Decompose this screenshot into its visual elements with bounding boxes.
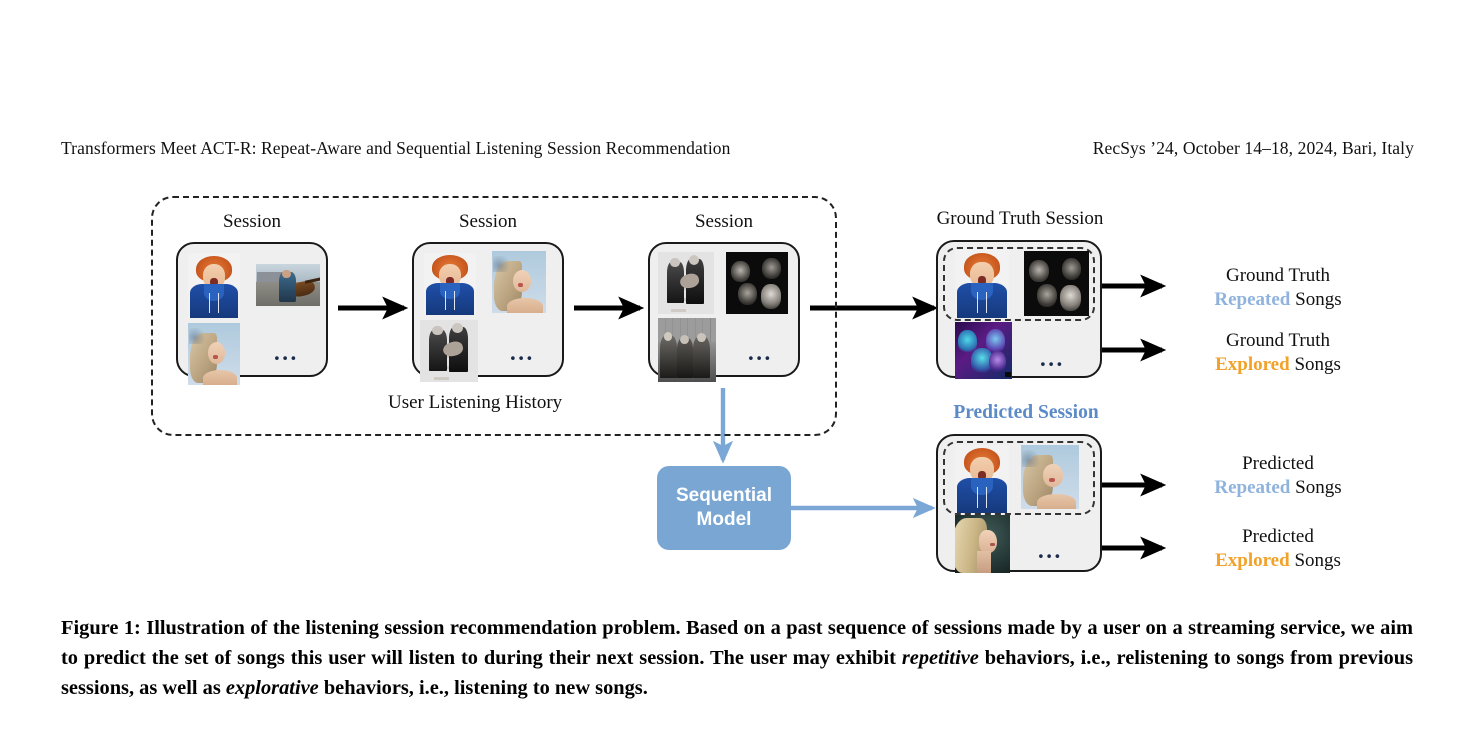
thumb-ed-sheeran-portrait [955, 445, 1009, 513]
ground-truth-repeated-suffix: Songs [1290, 289, 1341, 310]
ground-truth-repeated-line1: Ground Truth [1226, 265, 1330, 286]
session-1-title: Session [176, 211, 328, 233]
thumb-guitar-player-outdoor [256, 264, 320, 306]
ground-truth-session-card[interactable]: ... [936, 240, 1102, 378]
thumb-beatles-dark-quad [726, 252, 788, 314]
thumb-bw-duo-on-ladder [420, 320, 478, 382]
figure-caption-label: Figure 1: [61, 617, 141, 639]
predicted-explored-label: Predicted Explored Songs [1168, 525, 1388, 574]
figure-1-diagram: Session ... Session ... Session [0, 180, 1480, 600]
figure-caption-em-explorative: explorative [226, 677, 319, 699]
thumb-bw-band-on-steps [658, 318, 716, 382]
session-2-card[interactable]: ... [412, 242, 564, 377]
figure-caption: Figure 1: Illustration of the listening … [61, 614, 1413, 703]
session-3-ellipsis: ... [748, 341, 773, 364]
ground-truth-explored-label: Ground Truth Explored Songs [1168, 329, 1388, 378]
session-1-ellipsis: ... [274, 341, 299, 364]
session-3-title: Session [648, 211, 800, 233]
predicted-session-card[interactable]: ... [936, 434, 1102, 572]
thumb-taylor-swift-portrait [1021, 445, 1079, 509]
thumb-ed-sheeran-portrait [955, 250, 1009, 318]
predicted-ellipsis: ... [1038, 539, 1063, 562]
thumb-bw-duo-on-ladder [658, 252, 714, 314]
figure-caption-part3: behaviors, i.e., listening to new songs. [319, 677, 648, 699]
figure-caption-em-repetitive: repetitive [902, 647, 979, 669]
predicted-repeated-suffix: Songs [1290, 477, 1341, 498]
predicted-explored-line1: Predicted [1242, 526, 1314, 547]
user-listening-history-label: User Listening History [388, 392, 562, 414]
running-head-left: Transformers Meet ACT-R: Repeat-Aware an… [61, 138, 731, 159]
ground-truth-explored-line1: Ground Truth [1226, 330, 1330, 351]
predicted-session-title: Predicted Session [936, 402, 1116, 424]
predicted-repeated-line1: Predicted [1242, 453, 1314, 474]
running-head-right: RecSys ’24, October 14–18, 2024, Bari, I… [1093, 138, 1414, 159]
thumb-taylor-swift-portrait [188, 323, 240, 385]
ground-truth-explored-keyword: Explored [1215, 354, 1290, 375]
ground-truth-repeated-keyword: Repeated [1214, 289, 1290, 310]
predicted-repeated-label: Predicted Repeated Songs [1168, 452, 1388, 501]
sequential-model-label-line1: Sequential [676, 485, 772, 506]
predicted-repeated-keyword: Repeated [1214, 477, 1290, 498]
session-1-card[interactable]: ... [176, 242, 328, 377]
sequential-model-label-line2: Model [697, 509, 752, 530]
session-2-ellipsis: ... [510, 341, 535, 364]
thumb-beatles-dark-quad [1024, 251, 1089, 316]
ground-truth-session-title: Ground Truth Session [916, 208, 1124, 230]
session-3-card[interactable]: ... [648, 242, 800, 377]
predicted-explored-keyword: Explored [1215, 550, 1290, 571]
predicted-explored-suffix: Songs [1290, 550, 1341, 571]
session-2-title: Session [412, 211, 564, 233]
thumb-adele-profile-portrait [955, 515, 1010, 573]
ground-truth-ellipsis: ... [1040, 347, 1065, 370]
thumb-neon-group-portrait [955, 322, 1012, 379]
thumb-ed-sheeran-portrait [424, 253, 476, 315]
thumb-ed-sheeran-portrait [188, 253, 240, 318]
thumb-taylor-swift-portrait [492, 251, 546, 313]
sequential-model-label: Sequential Model [676, 484, 772, 532]
sequential-model-box[interactable]: Sequential Model [657, 466, 791, 550]
ground-truth-explored-suffix: Songs [1290, 354, 1341, 375]
ground-truth-repeated-label: Ground Truth Repeated Songs [1168, 264, 1388, 313]
